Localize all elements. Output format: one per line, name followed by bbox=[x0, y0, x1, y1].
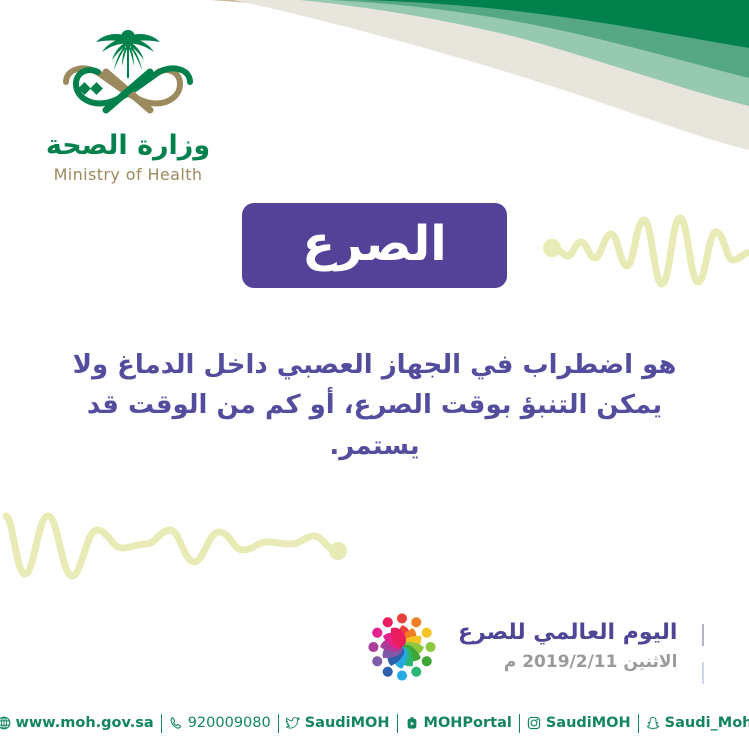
footer-item-website[interactable]: www.moh.gov.sa bbox=[0, 715, 161, 731]
body-paragraph: هو اضطراب في الجهاز العصبي داخل الدماغ و… bbox=[60, 345, 689, 466]
footer-label-youtube: MOHPortal bbox=[424, 715, 512, 731]
event-date: الاثنين 2019/2/11 م bbox=[458, 651, 677, 675]
footer-label-website: www.moh.gov.sa bbox=[15, 715, 153, 731]
snapchat-icon bbox=[646, 716, 661, 731]
footer-item-twitter[interactable]: SaudiMOH bbox=[279, 715, 397, 731]
eeg-wave-decreasing bbox=[0, 498, 360, 593]
edge-tick-lower bbox=[702, 662, 704, 684]
moh-logo-arabic-name: وزارة الصحة bbox=[28, 130, 228, 161]
moh-logo-mark bbox=[28, 22, 228, 132]
eeg-wave-increasing bbox=[530, 200, 749, 305]
footer-label-phone: 920009080 bbox=[188, 715, 271, 731]
footer-item-phone[interactable]: 920009080 bbox=[162, 715, 278, 731]
footer-label-instagram: SaudiMOH bbox=[546, 715, 631, 731]
twitter-icon bbox=[286, 716, 301, 731]
footer-label-twitter: SaudiMOH bbox=[305, 715, 390, 731]
footer-item-instagram[interactable]: SaudiMOH bbox=[520, 715, 638, 731]
world-epilepsy-day-logo bbox=[360, 605, 444, 689]
youtube-icon bbox=[405, 716, 420, 731]
infographic-poster: وزارة الصحة Ministry of Health الصرع هو … bbox=[0, 0, 749, 749]
globe-icon bbox=[0, 716, 11, 731]
footer-item-snapchat[interactable]: Saudi_Moh bbox=[639, 715, 749, 731]
footer-item-youtube[interactable]: MOHPortal bbox=[398, 715, 519, 731]
phone-icon bbox=[169, 716, 184, 731]
title-badge: الصرع bbox=[242, 203, 507, 288]
moh-logo-english-name: Ministry of Health bbox=[28, 165, 228, 184]
instagram-icon bbox=[527, 716, 542, 731]
edge-tick-upper bbox=[702, 624, 704, 646]
edge-tick-marks bbox=[700, 624, 708, 690]
page-title: الصرع bbox=[302, 220, 446, 272]
event-title: اليوم العالمي للصرع bbox=[458, 619, 677, 648]
event-texts: اليوم العالمي للصرع الاثنين 2019/2/11 م bbox=[458, 619, 677, 674]
footer-label-snapchat: Saudi_Moh bbox=[665, 715, 749, 731]
footer-contact-bar: www.moh.gov.sa 920009080 SaudiMOH bbox=[0, 706, 749, 740]
ministry-of-health-logo: وزارة الصحة Ministry of Health bbox=[28, 22, 228, 182]
world-epilepsy-day-block: اليوم العالمي للصرع الاثنين 2019/2/11 م bbox=[360, 604, 700, 690]
